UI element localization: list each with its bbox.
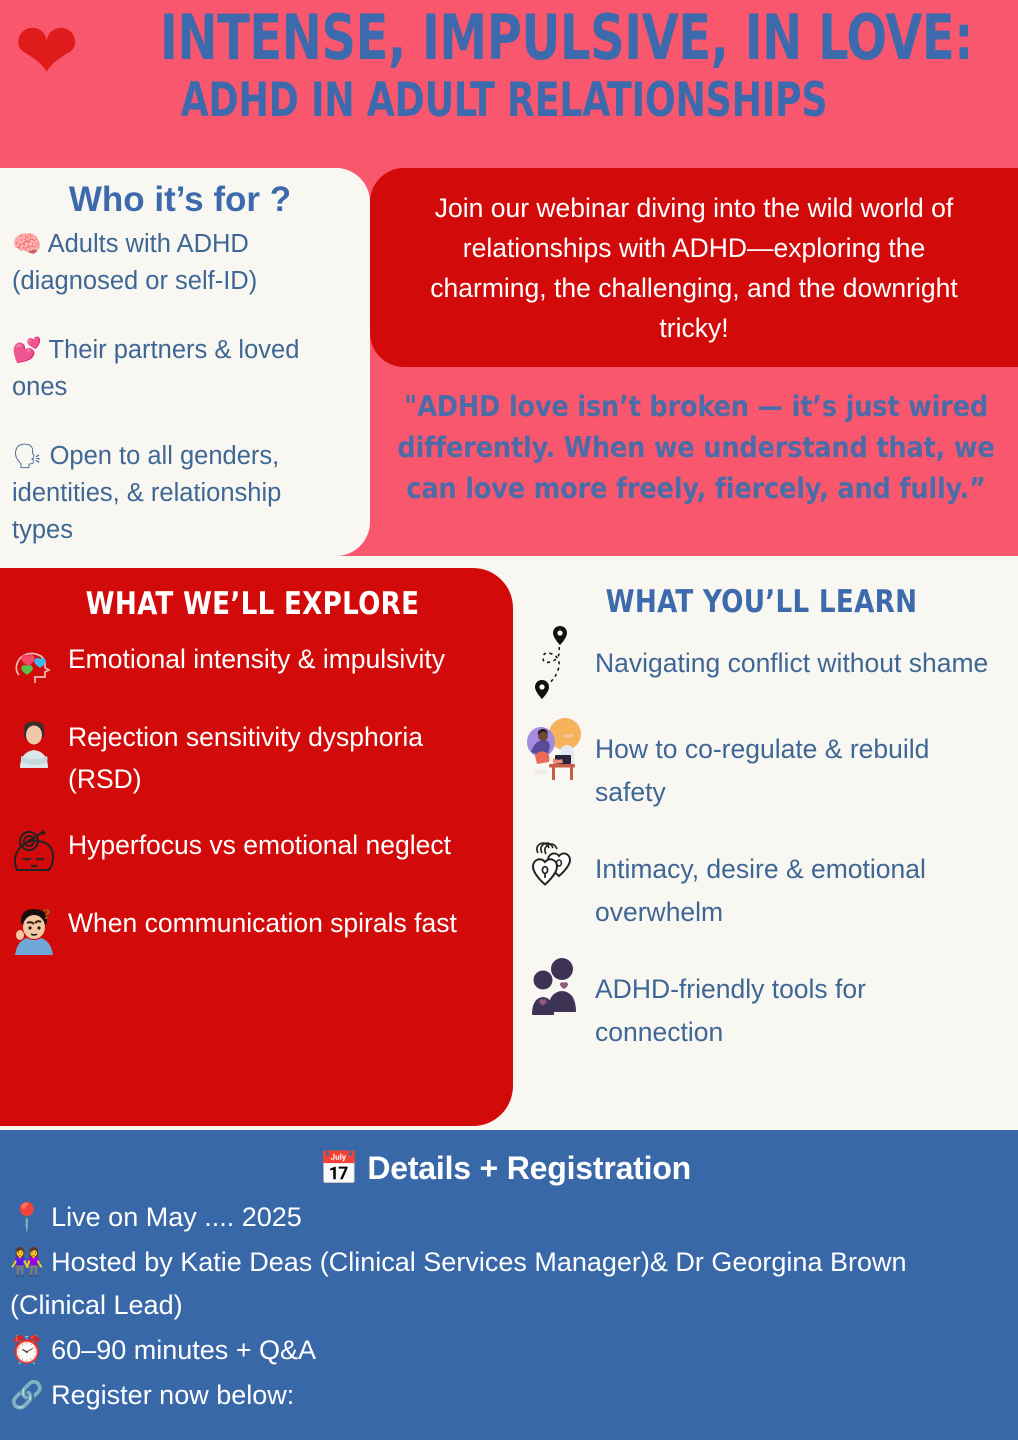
who-its-for-card: Who it’s for ? 🧠 Adults with ADHD (diagn… [0, 168, 370, 556]
list-item-label: How to co-regulate & rebuild safety [589, 714, 1000, 814]
page-title-line-1: INTENSE, IMPULSIVE, IN LOVE: [160, 4, 848, 72]
heart-locks-icon [523, 834, 589, 900]
list-item: ADHD-friendly tools for connection [523, 954, 1000, 1054]
who-its-for-item: 🗣 Open to all genders, identities, & rel… [12, 438, 348, 549]
pushpin-emoji: 📍 [10, 1202, 44, 1232]
heart-emoji: ❤ [14, 12, 79, 90]
what-youll-learn-title: WHAT YOU’LL LEARN [537, 582, 985, 622]
list-item: Rejection sensitivity dysphoria (RSD) [8, 714, 497, 800]
details-line: ⏰ 60–90 minutes + Q&A [10, 1329, 1000, 1372]
list-item: Navigating conflict without shame [523, 628, 1000, 694]
details-line-label: Hosted by Katie Deas (Clinical Services … [10, 1247, 907, 1320]
pull-quote: "ADHD love isn’t broken — it’s just wire… [378, 386, 1014, 509]
list-item-label: Rejection sensitivity dysphoria (RSD) [60, 714, 497, 800]
what-well-explore-panel: WHAT WE’LL EXPLORE Emotional intensity &… [0, 568, 513, 1126]
list-item: Emotional intensity & impulsivity [8, 636, 497, 692]
details-registration-title: 📅 Details + Registration [10, 1144, 1000, 1192]
who-its-for-item-label: Their partners & loved ones [12, 336, 299, 401]
who-its-for-item: 🧠 Adults with ADHD (diagnosed or self-ID… [12, 226, 348, 300]
brain-emoji: 🧠 [12, 231, 42, 258]
page-title-line-2: ADHD IN ADULT RELATIONSHIPS [160, 74, 848, 128]
what-youll-learn-panel: WHAT YOU’LL LEARN Navigating conflict wi… [513, 568, 1018, 1134]
list-item: Hyperfocus vs emotional neglect [8, 822, 497, 878]
intro-description-card: Join our webinar diving into the wild wo… [370, 168, 1018, 367]
list-item: Intimacy, desire & emotional overwhelm [523, 834, 1000, 934]
who-its-for-item: 💕 Their partners & loved ones [12, 332, 348, 406]
poster-title-block: INTENSE, IMPULSIVE, IN LOVE: ADHD IN ADU… [104, 4, 904, 128]
calendar-emoji: 📅 [319, 1150, 359, 1186]
details-line-label: 60–90 minutes + Q&A [51, 1335, 316, 1365]
confused-person-icon: ? [8, 904, 60, 956]
list-item: ? When communication spirals fast [8, 900, 497, 956]
svg-text:?: ? [43, 907, 51, 923]
couple-silhouette-icon [523, 954, 589, 1020]
head-with-emotion-hearts-icon [8, 640, 60, 692]
who-its-for-item-label: Adults with ADHD (diagnosed or self-ID) [12, 230, 257, 295]
head-with-target-icon [8, 826, 60, 878]
speaking-head-emoji: 🗣 [12, 443, 42, 470]
person-arms-crossed-icon [8, 718, 60, 770]
route-map-pins-icon [523, 628, 589, 694]
details-line: 📍 Live on May .... 2025 [10, 1196, 1000, 1239]
details-line: 👭 Hosted by Katie Deas (Clinical Service… [10, 1241, 1000, 1327]
who-its-for-title: Who it’s for ? [12, 178, 348, 222]
two-women-emoji: 👭 [10, 1247, 44, 1277]
details-line: 🔗 Register now below: [10, 1374, 1000, 1417]
details-registration-title-label: Details + Registration [367, 1150, 691, 1186]
list-item-label: Navigating conflict without shame [589, 628, 988, 685]
list-item-label: Emotional intensity & impulsivity [60, 636, 445, 680]
what-well-explore-title: WHAT WE’LL EXPLORE [23, 584, 483, 624]
details-line-label: Live on May .... 2025 [51, 1202, 302, 1232]
link-emoji: 🔗 [10, 1380, 44, 1410]
intro-description-text: Join our webinar diving into the wild wo… [430, 193, 957, 343]
details-line-label: Register now below: [51, 1380, 294, 1410]
list-item-label: ADHD-friendly tools for connection [589, 954, 1000, 1054]
list-item-label: When communication spirals fast [60, 900, 457, 944]
who-its-for-item-label: Open to all genders, identities, & relat… [12, 442, 281, 544]
details-registration-panel: 📅 Details + Registration 📍 Live on May .… [0, 1130, 1018, 1440]
list-item-label: Hyperfocus vs emotional neglect [60, 822, 451, 866]
two-hearts-emoji: 💕 [12, 337, 42, 364]
list-item: How to co-regulate & rebuild safety [523, 714, 1000, 814]
alarm-clock-emoji: ⏰ [10, 1335, 44, 1365]
list-item-label: Intimacy, desire & emotional overwhelm [589, 834, 1000, 934]
two-people-illustration-icon [523, 714, 589, 780]
poster-header: ❤ INTENSE, IMPULSIVE, IN LOVE: ADHD IN A… [0, 0, 1018, 170]
